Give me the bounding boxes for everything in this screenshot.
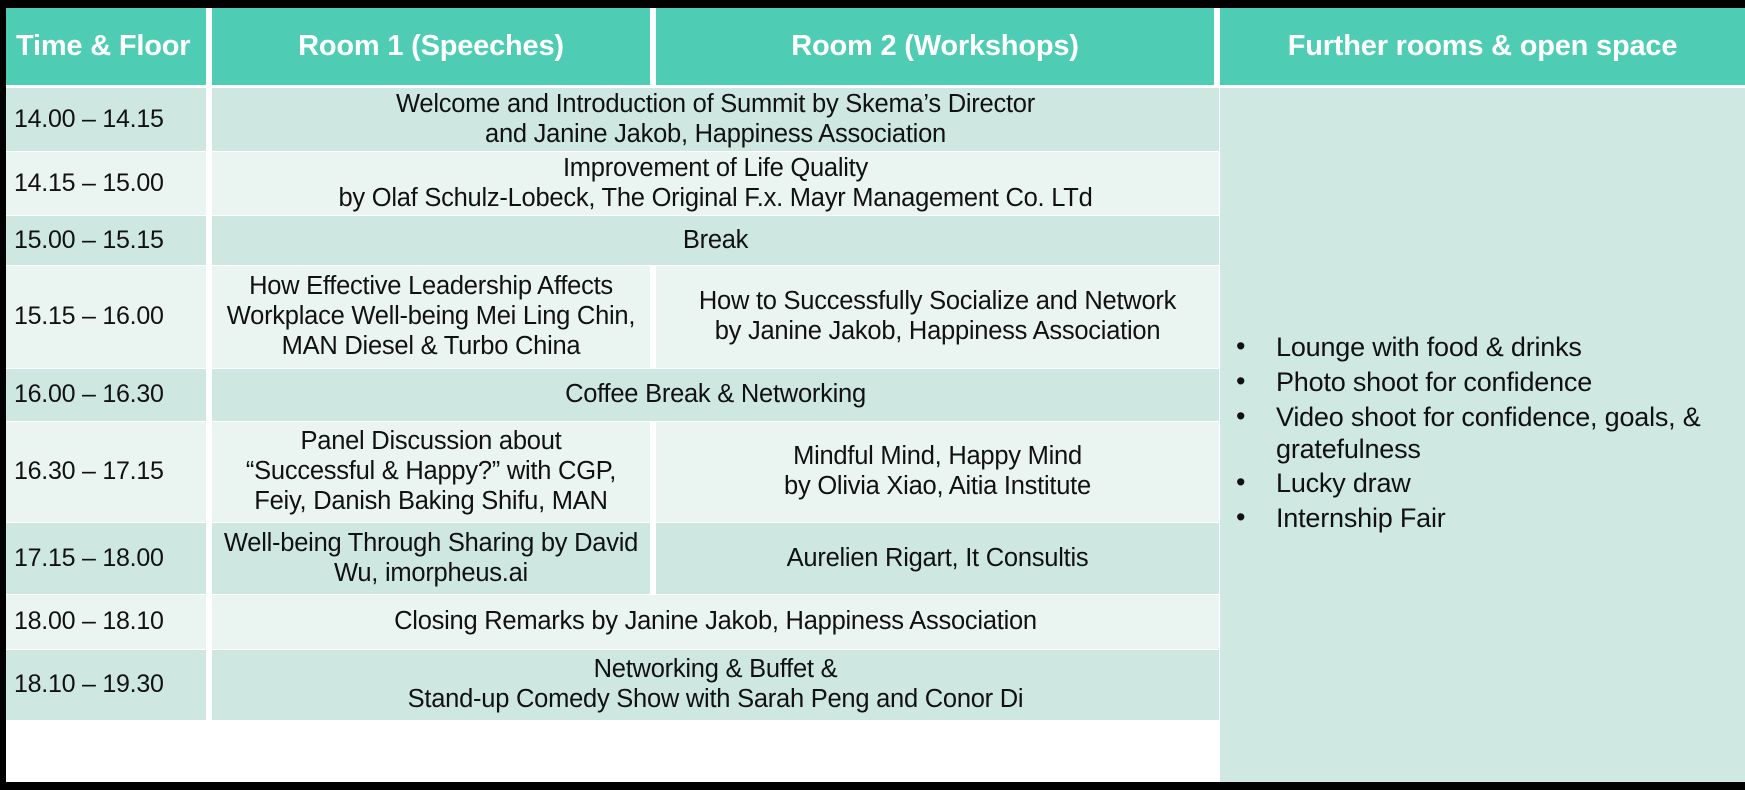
- list-item-label: Lounge with food & drinks: [1276, 332, 1582, 362]
- bullet-icon: •: [1236, 502, 1245, 534]
- list-item: • Lucky draw: [1228, 468, 1727, 500]
- list-item-label: Video shoot for confidence, goals, & gra…: [1276, 402, 1701, 464]
- row-time: 15.15 – 16.00: [6, 266, 206, 368]
- table-row: 16.00 – 16.30 Coffee Break & Networking: [6, 369, 1219, 421]
- row-time: 16.00 – 16.30: [6, 369, 206, 421]
- further-rooms-list: • Lounge with food & drinks • Photo shoo…: [1220, 332, 1745, 538]
- schedule-table: Time & Floor Room 1 (Speeches) Room 2 (W…: [6, 8, 1745, 782]
- table-row: 15.15 – 16.00 How Effective Leadership A…: [6, 266, 1219, 368]
- row-session-room-2: Aurelien Rigart, It Consultis: [656, 523, 1219, 594]
- table-row: 14.15 – 15.00 Improvement of Life Qualit…: [6, 152, 1219, 215]
- row-session-room-1: Well-being Through Sharing by David Wu, …: [212, 523, 650, 594]
- bullet-icon: •: [1236, 467, 1245, 499]
- row-time: 16.30 – 17.15: [6, 422, 206, 522]
- row-time: 14.15 – 15.00: [6, 152, 206, 215]
- header-further-rooms: Further rooms & open space: [1220, 8, 1745, 85]
- schedule-slide: Time & Floor Room 1 (Speeches) Room 2 (W…: [0, 0, 1745, 790]
- row-time: 18.10 – 19.30: [6, 650, 206, 720]
- row-time: 14.00 – 14.15: [6, 88, 206, 151]
- list-item: • Video shoot for confidence, goals, & g…: [1228, 402, 1727, 466]
- row-session-room-2: How to Successfully Socialize and Networ…: [656, 266, 1219, 368]
- table-row: 14.00 – 14.15 Welcome and Introduction o…: [6, 88, 1219, 151]
- list-item: • Photo shoot for confidence: [1228, 367, 1727, 399]
- list-item: • Internship Fair: [1228, 503, 1727, 535]
- bullet-icon: •: [1236, 401, 1245, 433]
- row-session-room-1: Panel Discussion about“Successful & Happ…: [212, 422, 650, 522]
- row-session-full: Closing Remarks by Janine Jakob, Happine…: [212, 595, 1219, 649]
- header-room-2: Room 2 (Workshops): [656, 8, 1214, 85]
- row-time: 17.15 – 18.00: [6, 523, 206, 594]
- table-row: 16.30 – 17.15 Panel Discussion about“Suc…: [6, 422, 1219, 522]
- table-row: 17.15 – 18.00 Well-being Through Sharing…: [6, 523, 1219, 594]
- row-time: 18.00 – 18.10: [6, 595, 206, 649]
- list-item-label: Lucky draw: [1276, 468, 1411, 498]
- row-session-full: Break: [212, 216, 1219, 265]
- row-session-full: Networking & Buffet &Stand-up Comedy Sho…: [212, 650, 1219, 720]
- header-room-1: Room 1 (Speeches): [212, 8, 650, 85]
- row-session-full: Improvement of Life Qualityby Olaf Schul…: [212, 152, 1219, 215]
- header-time-floor: Time & Floor: [6, 8, 206, 85]
- bullet-icon: •: [1236, 331, 1245, 363]
- row-session-room-2: Mindful Mind, Happy Mindby Olivia Xiao, …: [656, 422, 1219, 522]
- list-item: • Lounge with food & drinks: [1228, 332, 1727, 364]
- row-session-full: Coffee Break & Networking: [212, 369, 1219, 421]
- list-item-label: Internship Fair: [1276, 503, 1446, 533]
- row-session-full: Welcome and Introduction of Summit by Sk…: [212, 88, 1219, 151]
- row-time: 15.00 – 15.15: [6, 216, 206, 265]
- bullet-icon: •: [1236, 366, 1245, 398]
- table-header-row: Time & Floor Room 1 (Speeches) Room 2 (W…: [6, 8, 1745, 85]
- list-item-label: Photo shoot for confidence: [1276, 367, 1592, 397]
- table-row: 18.00 – 18.10 Closing Remarks by Janine …: [6, 595, 1219, 649]
- table-row: 18.10 – 19.30 Networking & Buffet &Stand…: [6, 650, 1219, 720]
- table-row: 15.00 – 15.15 Break: [6, 216, 1219, 265]
- further-rooms-cell: • Lounge with food & drinks • Photo shoo…: [1220, 88, 1745, 782]
- row-session-room-1: How Effective Leadership Affects Workpla…: [212, 266, 650, 368]
